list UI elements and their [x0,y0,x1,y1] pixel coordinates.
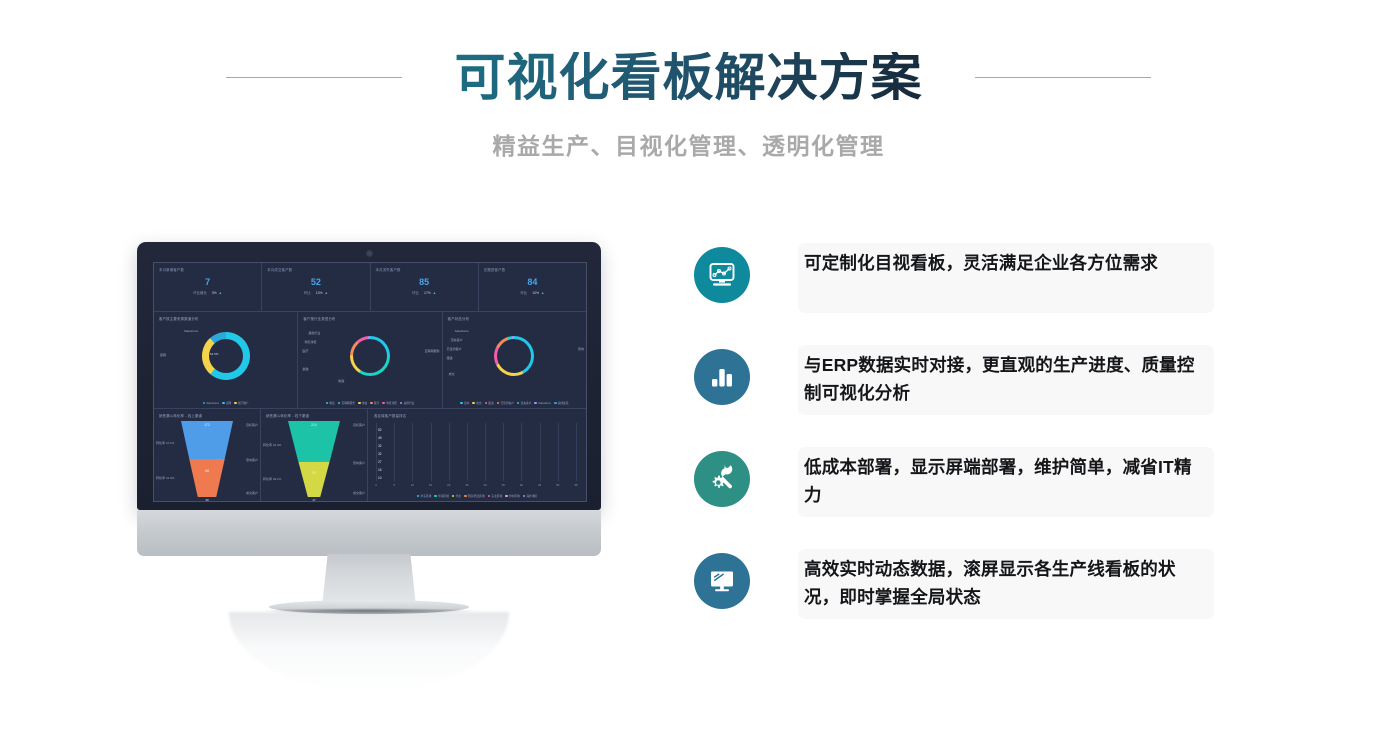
bar-row: 52 [376,427,382,432]
monitor-bezel: 本月新增客户数 7 环比增长3%▲ 本月成交客户数 52 环比13%▲ 本月流失… [137,242,601,510]
kpi-card: 本月流失客户数 85 环比17%▲ [371,263,479,311]
funnel-card-left: 销售漏斗转化率 - 线上渠道 172 68 目标客户 意向客户 成交客户 转化率… [154,409,261,501]
page-subtitle: 精益生产、目视化管理、透明化管理 [0,127,1377,161]
feature-text: 低成本部署，显示屏端部署，维护简单，减省IT精力 [798,447,1214,517]
kpi-card: 本月成交客户数 52 环比13%▲ [262,263,370,311]
donut-legend: 意向 成交 跟进 已签约客户 流失客户 Salesforce 其他渠道 [443,401,586,405]
title-row: 可视化看板解决方案 [0,46,1377,108]
bar-row: 32 [376,443,382,448]
bar-value: 32 [378,444,382,448]
funnel-segment: 68 [189,459,225,497]
card-title: 客户按行业类型分布 [303,316,437,321]
donut-label: 已签约客户 [447,347,462,351]
kpi-value: 7 [205,278,210,287]
bar-x-axis: 0 5 10 15 20 25 30 35 40 45 50 55 [376,483,576,489]
feature-item-1[interactable]: 可定制化目视看板，灵活满足企业各方位需求 [692,243,1222,345]
feature-text: 高效实时动态数据，滚屏显示各生产线看板的状况，即时掌握全局状态 [798,549,1214,619]
funnel-value: 47 [312,498,315,502]
donut-label: 医疗 [302,349,308,353]
donut-label: 其他行业 [308,331,320,335]
feature-item-4[interactable]: 高效实时动态数据，滚屏显示各生产线看板的状况，即时掌握全局状态 [692,549,1222,651]
donut-label: 意向 [578,347,584,351]
kpi-row: 本月新增客户数 7 环比增长3%▲ 本月成交客户数 52 环比13%▲ 本月流失… [154,263,586,312]
bar-value: 10 [378,476,382,480]
funnel-value: 38 [205,498,208,502]
trend-up-icon: ▲ [324,291,327,295]
funnel-value: 92 [299,471,330,475]
bar-value: 52 [378,428,382,432]
donut-card-3: 客户状态分布 Salesforce 流失客户 已签约客户 跟进 成交 意向 意向… [443,312,586,408]
donut-label: 跟进 [447,356,453,360]
funnel-card-right: 销售漏斗转化率 - 线下渠道 214 92 目标客户 意向客户 成交客户 转化率… [261,409,368,501]
kpi-title: 本月新增客户数 [159,267,256,272]
feature-item-3[interactable]: 低成本部署，显示屏端部署，维护简单，减省IT精力 [692,447,1222,549]
kpi-sub-label: 环比增长 [193,291,207,295]
donut-legend: Salesforce 官网 线下推广 [154,401,297,405]
card-title: 销售漏斗转化率 - 线上渠道 [159,413,256,418]
trend-up-icon: ▲ [541,291,544,295]
donut-row: 客户按主要来源渠道分布 官网 Salesforce 61.5% Salesfor… [154,312,586,409]
bar-plot-area: 52 49 32 32 [376,423,576,481]
funnel-segment: 172 [181,421,233,459]
funnel-stage-label: 成交客户 [353,491,365,495]
feature-text: 与ERP数据实时对接，更直观的生产进度、质量控制可视化分析 [798,345,1214,415]
trend-up-icon: ▲ [219,291,222,295]
kpi-card: 总跟进客户数 84 环比10%▲ [479,263,586,311]
card-title: 客户状态分布 [448,316,582,321]
monitor-chin [137,510,601,556]
donut-label: 官网 [160,353,166,357]
bar-value: 49 [378,436,382,440]
donut-label: 互联网服务 [425,349,440,353]
kpi-card: 本月新增客户数 7 环比增长3%▲ [154,263,262,311]
card-title: 销售漏斗转化率 - 线下渠道 [266,413,363,418]
kpi-value: 84 [527,278,537,287]
kpi-sub-value: 10% [532,291,539,295]
bottom-row: 销售漏斗转化率 - 线上渠道 172 68 目标客户 意向客户 成交客户 转化率… [154,409,586,501]
bar-legend: 华东区域 华南区域 华北 西南/西北区域 东北区域 华中区域 海外地区 [368,494,586,498]
funnel-value: 172 [181,423,233,427]
donut-label: 制造 [338,379,344,383]
monitor-mockup: 本月新增客户数 7 环比增长3%▲ 本月成交客户数 52 环比13%▲ 本月流失… [137,242,601,672]
display-screen-icon [694,553,750,609]
bar-value: 16 [378,468,382,472]
funnel-stage-label: 成交客户 [246,491,258,495]
funnel-value: 68 [189,469,225,473]
donut-label: 流失客户 [451,338,463,342]
funnel-rate-label: 转化率 41.9% [156,476,174,480]
kpi-title: 本月成交客户数 [267,267,364,272]
funnel-rate-label: 转化率 44.4% [263,443,281,447]
funnel-stage-label: 意向客户 [353,461,365,465]
dashboard-screen: 本月新增客户数 7 环比增长3%▲ 本月成交客户数 52 环比13%▲ 本月流失… [153,262,587,502]
kpi-value: 52 [311,278,321,287]
funnel-stage-label: 意向客户 [246,458,258,462]
kpi-title: 总跟进客户数 [484,267,581,272]
bar-row: 49 [376,435,382,440]
kpi-sub-value: 3% [212,291,217,295]
monitor-stand-neck [322,554,416,606]
donut-card-1: 客户按主要来源渠道分布 官网 Salesforce 61.5% Salesfor… [154,312,298,408]
donut-label: 成交 [449,372,455,376]
title-rule-left [226,77,402,78]
bar-chart-icon [694,349,750,405]
monitor-linechart-icon [694,247,750,303]
funnel-rate-label: 转化率 47.1% [156,441,174,445]
kpi-title: 本月流失客户数 [376,267,473,272]
feature-text: 可定制化目视看板，灵活满足企业各方位需求 [798,243,1214,313]
card-title: 各区域客户数量排名 [374,413,581,418]
page-header: 可视化看板解决方案 精益生产、目视化管理、透明化管理 [0,0,1377,180]
donut-label: 零售消费 [304,340,316,344]
bar-row: 27 [376,459,382,464]
donut-label: Salesforce [184,329,198,333]
donut-label: 金融 [302,367,308,371]
kpi-sub-label: 环比 [412,291,419,295]
donut-chart [494,336,534,376]
wrench-gear-icon [694,451,750,507]
donut-card-2: 客户按行业类型分布 其他行业 零售消费 医疗 金融 互联网服务 制造 制造 互联… [298,312,442,408]
bar-value: 27 [378,460,382,464]
donut-legend: 制造 互联网服务 金融 医疗 零售消费 其他行业 [298,401,441,405]
feature-list: 可定制化目视看板，灵活满足企业各方位需求 与ERP数据实时对接，更直观的生产进度… [692,243,1222,651]
funnel-value: 214 [288,423,340,427]
donut-center-label: 61.5% [210,352,219,356]
bar-row: 10 [376,475,382,480]
monitor-reflection [229,612,509,690]
bar-row: 32 [376,451,382,456]
card-title: 客户按主要来源渠道分布 [159,316,293,321]
feature-item-2[interactable]: 与ERP数据实时对接，更直观的生产进度、质量控制可视化分析 [692,345,1222,447]
donut-label: Salesforce [455,329,469,333]
trend-up-icon: ▲ [433,291,436,295]
kpi-sub-label: 环比 [304,291,311,295]
bar-chart-card: 各区域客户数量排名 [368,409,586,501]
funnel-stage-label: 目标客户 [246,423,258,427]
funnel-segment: 92 [299,462,330,497]
kpi-sub-value: 17% [424,291,431,295]
funnel-stage-label: 目标客户 [353,423,365,427]
kpi-sub-label: 环比 [520,291,527,295]
donut-chart [350,336,390,376]
bar-row: 16 [376,467,382,472]
webcam-icon [367,251,372,256]
donut-chart [202,332,250,380]
page-title: 可视化看板解决方案 [454,52,922,103]
kpi-value: 85 [419,278,429,287]
bar-value: 32 [378,452,382,456]
funnel-segment: 214 [288,421,340,462]
title-rule-right [975,77,1151,78]
funnel-rate-label: 转化率 49.1% [263,477,281,481]
kpi-sub-value: 13% [316,291,323,295]
